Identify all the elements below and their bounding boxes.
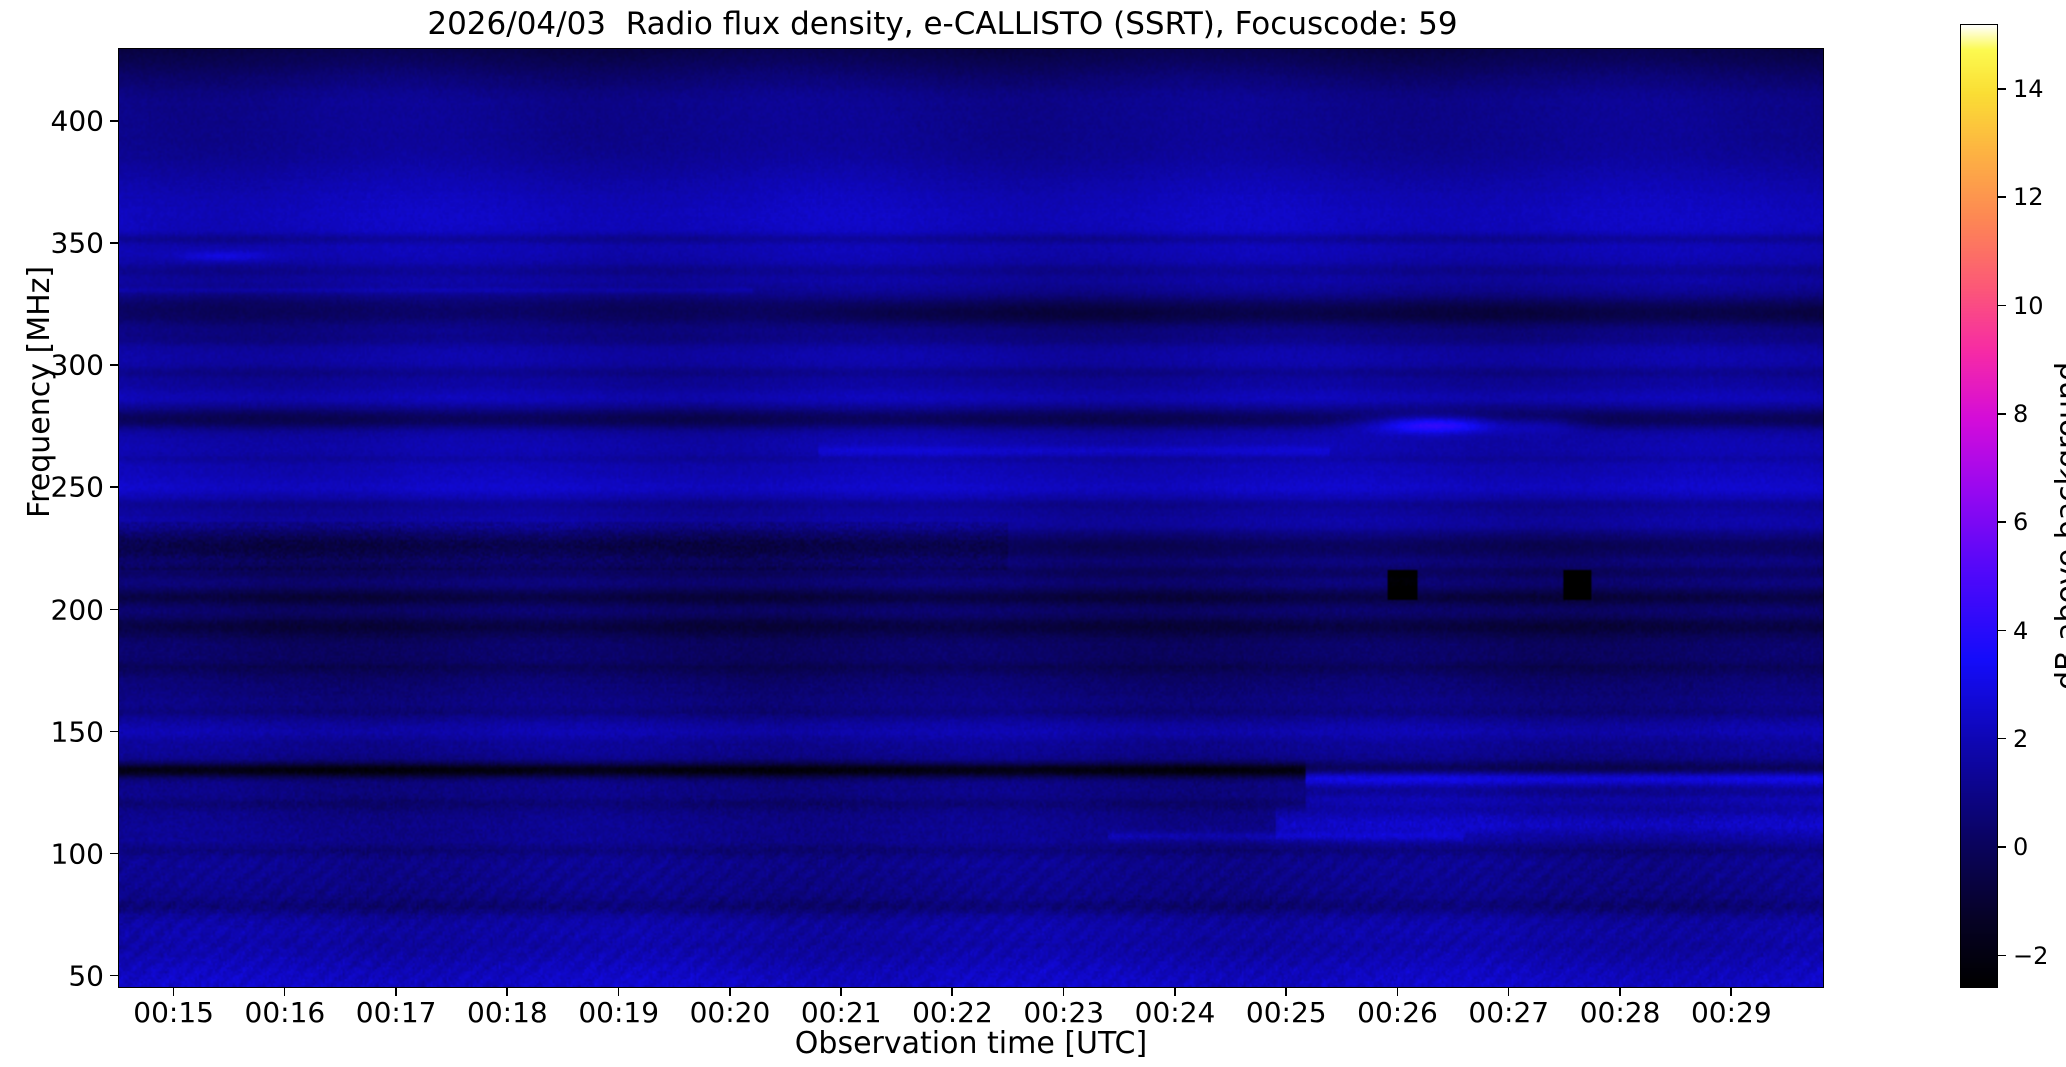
x-tick-mark — [840, 988, 842, 996]
colorbar-tick-mark — [1998, 955, 2006, 957]
y-tick-label: 200 — [14, 593, 104, 626]
x-tick-label: 00:27 — [1468, 996, 1549, 1029]
y-tick-mark — [110, 731, 118, 733]
x-tick-mark — [618, 988, 620, 996]
y-tick-mark — [110, 609, 118, 611]
colorbar-tick-mark — [1998, 738, 2006, 740]
colorbar-tick-mark — [1998, 630, 2006, 632]
colorbar-tick-label: 4 — [2013, 617, 2028, 645]
colorbar-tick-label: 0 — [2013, 833, 2028, 861]
x-tick-mark — [284, 988, 286, 996]
x-tick-mark — [1508, 988, 1510, 996]
y-tick-mark — [110, 853, 118, 855]
x-tick-label: 00:17 — [356, 996, 437, 1029]
x-tick-mark — [1063, 988, 1065, 996]
spectrogram-axes[interactable] — [118, 48, 1824, 988]
colorbar-label: dB above background — [2050, 362, 2066, 690]
y-tick-mark — [110, 364, 118, 366]
y-tick-label: 150 — [14, 715, 104, 748]
x-tick-mark — [173, 988, 175, 996]
x-tick-label: 00:19 — [578, 996, 659, 1029]
colorbar-tick-mark — [1998, 846, 2006, 848]
x-tick-label: 00:26 — [1357, 996, 1438, 1029]
y-tick-label: 50 — [14, 959, 104, 992]
x-tick-mark — [1285, 988, 1287, 996]
colorbar-tick-label: 8 — [2013, 400, 2028, 428]
colorbar-gradient — [1961, 25, 1997, 987]
x-tick-mark — [1619, 988, 1621, 996]
x-tick-label: 00:23 — [1023, 996, 1104, 1029]
colorbar-tick-mark — [1998, 413, 2006, 415]
spectrogram-image — [119, 49, 1823, 987]
y-tick-mark — [110, 120, 118, 122]
colorbar-tick-mark — [1998, 196, 2006, 198]
y-tick-label: 100 — [14, 837, 104, 870]
colorbar-tick-label: −2 — [2013, 942, 2048, 970]
x-tick-mark — [1174, 988, 1176, 996]
x-tick-label: 00:20 — [690, 996, 771, 1029]
x-axis-label: Observation time [UTC] — [118, 1026, 1824, 1061]
x-tick-label: 00:25 — [1246, 996, 1327, 1029]
colorbar[interactable] — [1960, 24, 1998, 988]
colorbar-tick-mark — [1998, 88, 2006, 90]
y-tick-mark — [110, 242, 118, 244]
chart-title: 2026/04/03 Radio flux density, e-CALLIST… — [0, 5, 1885, 43]
x-tick-label: 00:15 — [133, 996, 214, 1029]
y-tick-label: 400 — [14, 105, 104, 138]
colorbar-tick-mark — [1998, 305, 2006, 307]
x-tick-label: 00:16 — [245, 996, 326, 1029]
x-tick-label: 00:29 — [1691, 996, 1772, 1029]
y-axis-label: Frequency [MHz] — [22, 266, 57, 518]
colorbar-tick-label: 6 — [2013, 508, 2028, 536]
colorbar-tick-label: 10 — [2013, 292, 2044, 320]
colorbar-tick-mark — [1998, 521, 2006, 523]
y-tick-mark — [110, 975, 118, 977]
y-tick-label: 350 — [14, 227, 104, 260]
colorbar-tick-label: 12 — [2013, 183, 2044, 211]
x-tick-mark — [729, 988, 731, 996]
colorbar-tick-label: 14 — [2013, 75, 2044, 103]
x-tick-mark — [951, 988, 953, 996]
x-tick-mark — [395, 988, 397, 996]
x-tick-mark — [1730, 988, 1732, 996]
x-tick-label: 00:28 — [1580, 996, 1661, 1029]
x-tick-label: 00:21 — [801, 996, 882, 1029]
figure-canvas: 2026/04/03 Radio flux density, e-CALLIST… — [0, 0, 2066, 1067]
colorbar-tick-label: 2 — [2013, 725, 2028, 753]
x-tick-label: 00:24 — [1135, 996, 1216, 1029]
x-tick-mark — [1397, 988, 1399, 996]
x-tick-mark — [506, 988, 508, 996]
y-tick-mark — [110, 486, 118, 488]
x-tick-label: 00:18 — [467, 996, 548, 1029]
x-tick-label: 00:22 — [912, 996, 993, 1029]
